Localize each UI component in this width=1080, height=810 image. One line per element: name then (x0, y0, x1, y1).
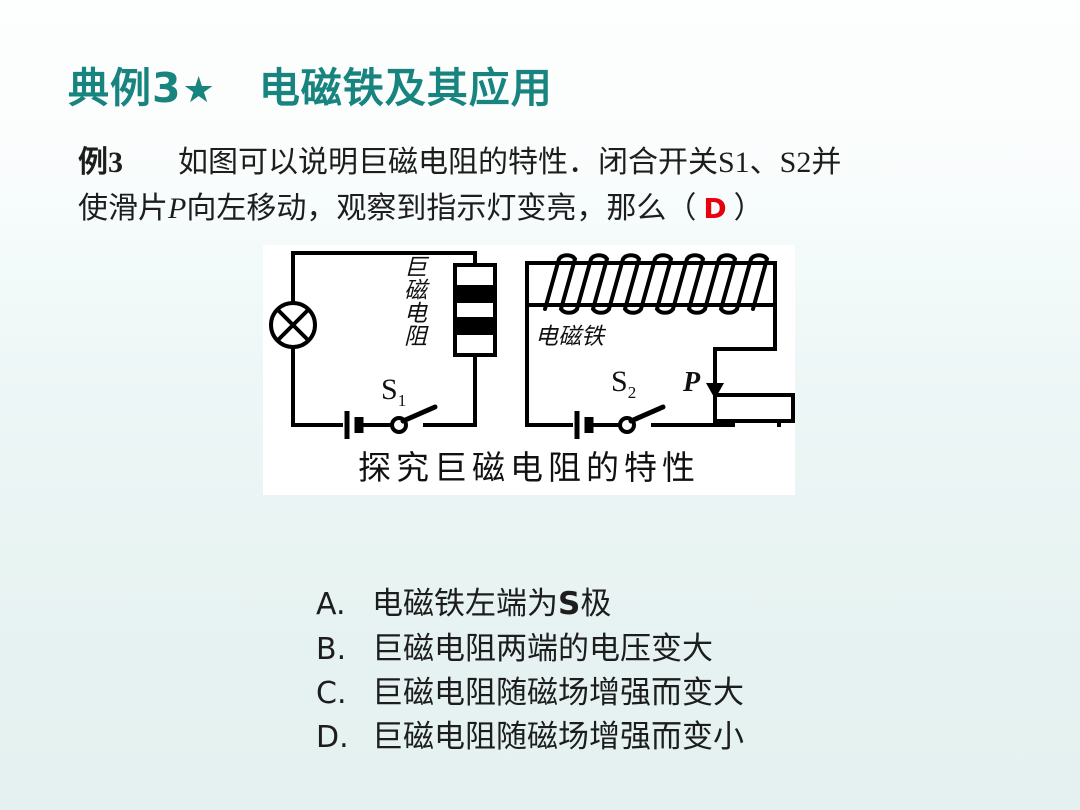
option-b-key: B. (316, 629, 372, 671)
slide-canvas: 典例3 ★ 电磁铁及其应用 例3 如图可以说明巨磁电阻的特性．闭合开关S1、S2… (0, 0, 1080, 810)
answer-mark: D (696, 192, 733, 225)
option-c-text: 巨磁电阻随磁场增强而变大 (372, 671, 744, 715)
option-b[interactable]: B. 巨磁电阻两端的电压变大 (316, 627, 744, 671)
page-title: 典例3 ★ 电磁铁及其应用 (68, 54, 553, 114)
option-d-key: D. (316, 717, 372, 759)
option-a-pole: S (558, 586, 580, 622)
switch-s2-subscript: 2 (628, 383, 637, 402)
gmr-resistor (455, 265, 495, 355)
switch-s2-label: S2 (611, 365, 636, 403)
battery-symbol-2 (577, 411, 589, 439)
question-line-2c: ） (734, 192, 764, 225)
option-d[interactable]: D. 巨磁电阻随磁场增强而变小 (316, 715, 744, 759)
figure-caption: 探究巨磁电阻的特性 (263, 441, 795, 489)
gmr-label: 巨磁电阻 (401, 255, 424, 347)
title-topic: 电磁铁及其应用 (259, 54, 553, 114)
switch-s2-letter: S (611, 365, 628, 398)
option-c-key: C. (316, 673, 372, 715)
star-icon: ★ (183, 70, 215, 111)
question-label: 例3 (78, 146, 123, 179)
question-block: 例3 如图可以说明巨磁电阻的特性．闭合开关S1、S2并 使滑片P向左移动，观察到… (78, 140, 1018, 231)
question-line-2b: 向左移动，观察到指示灯变亮，那么（ (186, 192, 696, 225)
switch-s1-subscript: 1 (398, 391, 407, 410)
option-b-text: 巨磁电阻两端的电压变大 (372, 627, 713, 671)
lamp-symbol (271, 303, 315, 347)
option-a[interactable]: A. 电磁铁左端为S极 (316, 582, 744, 627)
question-line-1: 如图可以说明巨磁电阻的特性．闭合开关S1、S2并 (178, 146, 841, 179)
question-line-2a: 使滑片 (78, 192, 168, 225)
option-a-text-before: 电磁铁左端为 (372, 586, 558, 621)
options-list: A. 电磁铁左端为S极 B. 巨磁电阻两端的电压变大 C. 巨磁电阻随磁场增强而… (316, 582, 744, 760)
slider-variable-p: P (168, 192, 186, 225)
title-prefix: 典例3 (68, 54, 182, 114)
slider-p-label: P (683, 367, 700, 399)
switch-s1-label: S1 (381, 373, 406, 411)
circuit-figure: 巨磁电阻 电磁铁 S1 S2 P 探究巨磁电阻的特性 (263, 245, 795, 495)
circuit-diagram-svg (263, 245, 795, 445)
battery-symbol-1 (347, 411, 359, 439)
option-a-key: A. (316, 584, 372, 626)
option-a-text-after: 极 (580, 586, 611, 621)
option-d-text: 巨磁电阻随磁场增强而变小 (372, 715, 744, 759)
rheostat-slider-p[interactable] (706, 375, 793, 421)
switch-s2[interactable] (620, 407, 663, 432)
option-a-text: 电磁铁左端为S极 (372, 582, 611, 627)
electromagnet-label: 电磁铁 (535, 317, 604, 351)
switch-s1-letter: S (381, 373, 398, 406)
option-c[interactable]: C. 巨磁电阻随磁场增强而变大 (316, 671, 744, 715)
